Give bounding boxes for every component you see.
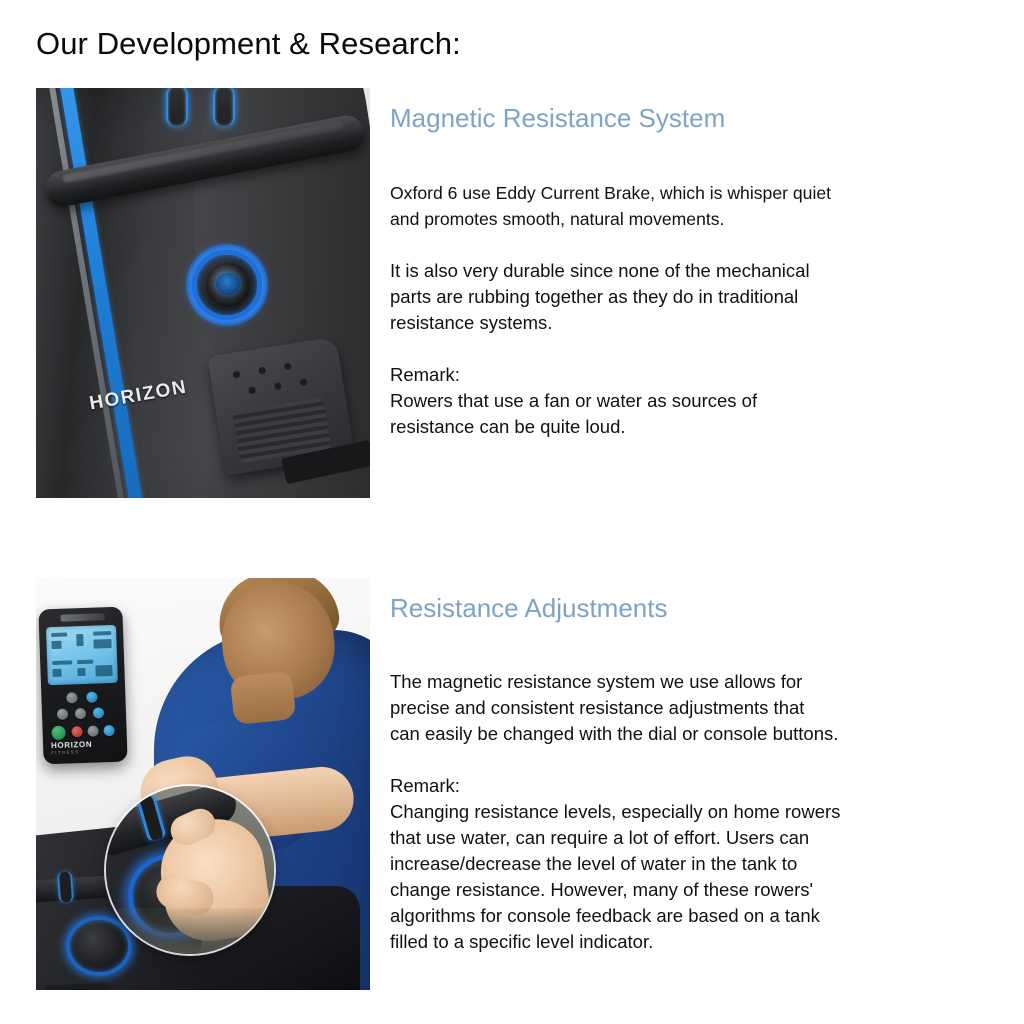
dial-center-light (216, 273, 240, 295)
console-key-1 (66, 692, 77, 703)
resistance-dial (186, 244, 268, 326)
section-1-paragraph-2: It is also very durable since none of th… (390, 258, 990, 336)
console-adjustment-illustration: HORIZON FITNESS (36, 578, 370, 990)
console-brand-sub: FITNESS (51, 749, 92, 755)
console-key-4 (75, 708, 86, 719)
rower-console: HORIZON FITNESS (38, 607, 127, 765)
console-lcd-display (46, 625, 118, 685)
console-key-2 (86, 692, 97, 703)
inset-floor (106, 908, 274, 954)
footplate-dots (223, 352, 324, 405)
console-key-7 (103, 725, 114, 736)
console-key-3 (57, 709, 68, 720)
console-key-6 (87, 725, 98, 736)
page-title: Our Development & Research: (36, 26, 461, 62)
section-1-heading: Magnetic Resistance System (390, 88, 990, 134)
console-adjustment-photo: HORIZON FITNESS (36, 578, 370, 990)
section-2-paragraph-1: The magnetic resistance system we use al… (390, 669, 990, 747)
section-1-paragraph-1: Oxford 6 use Eddy Current Brake, which i… (390, 180, 990, 232)
console-stop-key (71, 726, 82, 737)
console-key-5 (93, 707, 104, 718)
handlebar-ring-left-icon (166, 88, 188, 126)
section-2-heading: Resistance Adjustments (390, 578, 990, 624)
rower-frame-dial-photo: HORIZON (36, 88, 370, 498)
console-keypad (48, 691, 120, 745)
section-1-text-column: Magnetic Resistance System Oxford 6 use … (390, 88, 990, 440)
person-neck (230, 671, 297, 725)
console-brand-text: HORIZON FITNESS (51, 740, 93, 755)
console-base (46, 983, 109, 990)
rower-frame-illustration: HORIZON (36, 88, 370, 498)
console-start-key (51, 726, 65, 740)
section-1-remark: Remark: Rowers that use a fan or water a… (390, 362, 990, 440)
lower-handlebar-ring-icon (57, 872, 74, 903)
section-2-text-column: Resistance Adjustments The magnetic resi… (390, 578, 990, 955)
dial-closeup-inset (106, 786, 274, 954)
handlebar-ring-right-icon (213, 88, 235, 126)
section-magnetic-resistance-system: HORIZON Magnetic Resistance System Oxfor… (0, 88, 1024, 508)
section-resistance-adjustments: HORIZON FITNESS Resistance Adjustments T… (0, 578, 1024, 998)
section-2-remark: Remark: Changing resistance levels, espe… (390, 773, 990, 955)
console-logo-strip (61, 613, 105, 622)
